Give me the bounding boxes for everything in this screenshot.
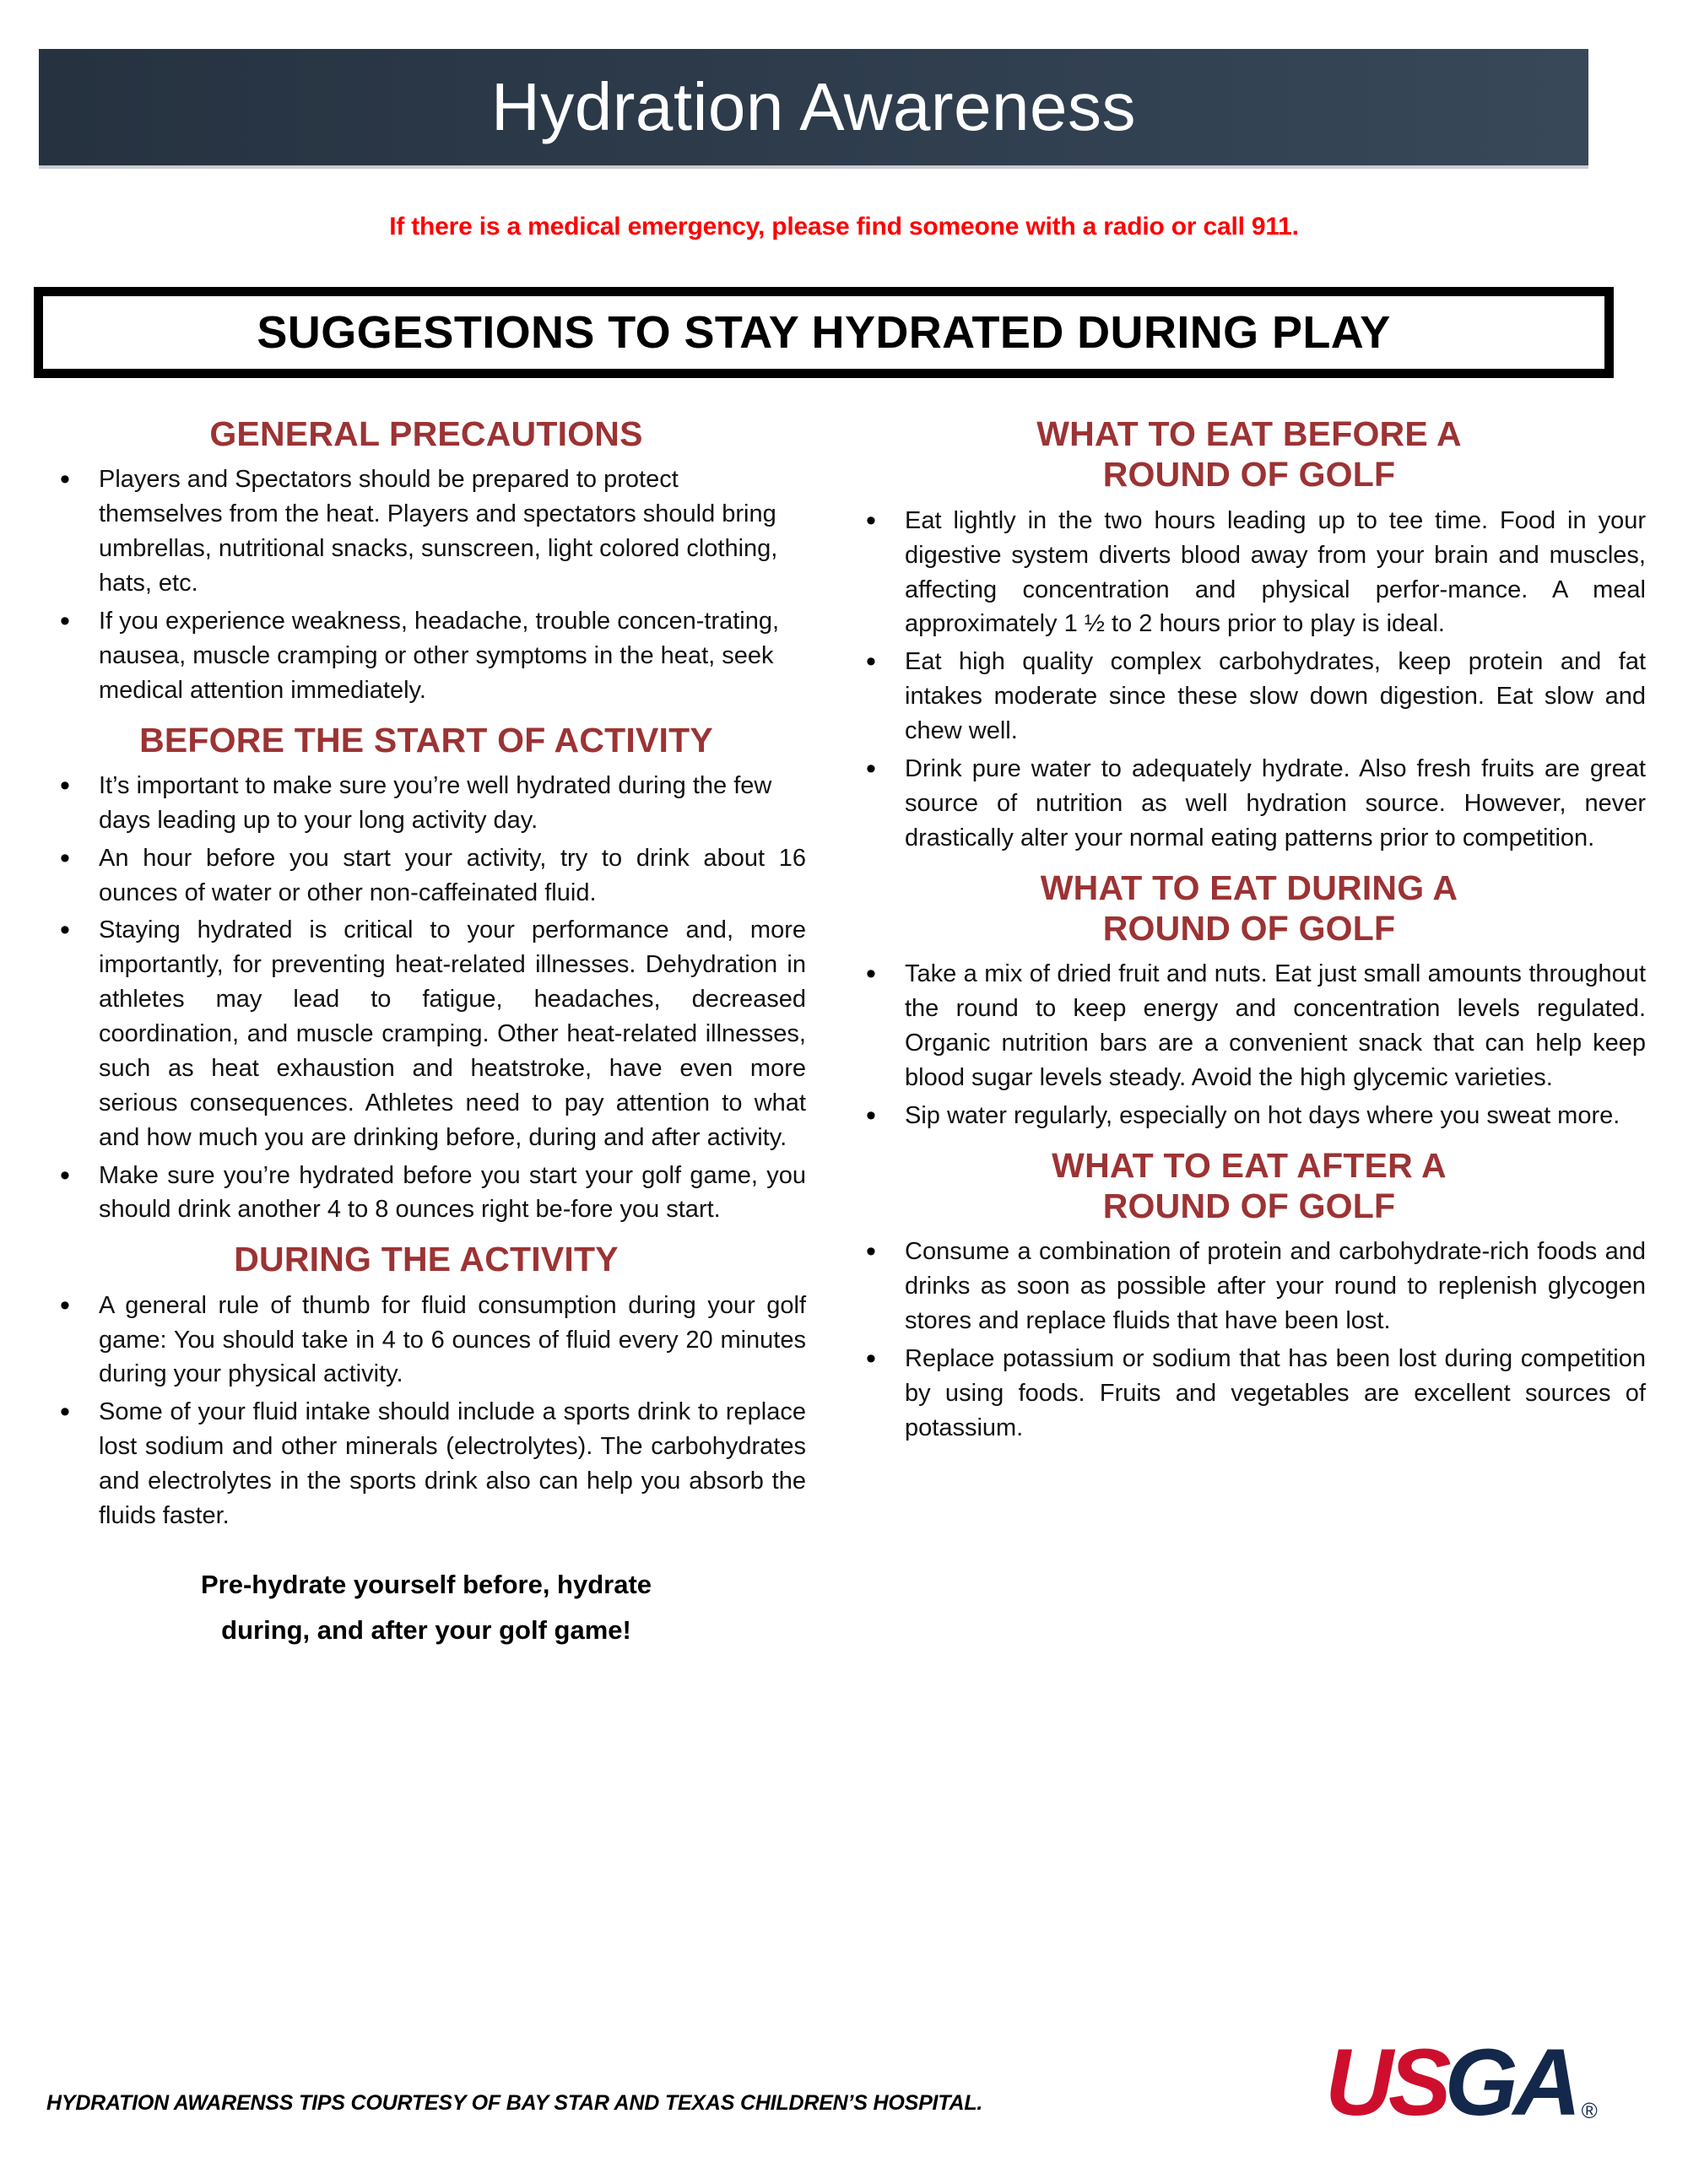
content-columns: GENERAL PRECAUTIONS Players and Spectato… [0,414,1688,1653]
right-column: WHAT TO EAT BEFORE A ROUND OF GOLF Eat l… [844,414,1688,1653]
section-heading-what-to-eat-before: WHAT TO EAT BEFORE A ROUND OF GOLF [852,414,1646,495]
header-banner: Hydration Awareness [39,49,1588,169]
list-item: Some of your fluid intake should include… [46,1395,806,1533]
section-heading-general-precautions: GENERAL PRECAUTIONS [46,414,806,454]
bullet-list-what-to-eat-after: Consume a combination of protein and car… [852,1235,1646,1445]
main-heading-box: SUGGESTIONS TO STAY HYDRATED DURING PLAY [34,287,1614,378]
list-item: Sip water regularly, especially on hot d… [852,1099,1646,1133]
closing-statement-line-2: during, and after your golf game! [46,1608,806,1653]
section-heading-before-start-of-activity: BEFORE THE START OF ACTIVITY [46,720,806,760]
footer-credit-line: HYDRATION AWARENSS TIPS COURTESY OF BAY … [46,2091,982,2116]
section-heading-what-to-eat-during: WHAT TO EAT DURING A ROUND OF GOLF [852,868,1646,949]
page-title: Hydration Awareness [491,73,1136,141]
registered-trademark-icon: ® [1582,2100,1598,2122]
section-heading-line-1: WHAT TO EAT DURING A [852,868,1646,908]
list-item: If you experience weakness, headache, tr… [46,604,806,708]
usga-logo-us-text: US [1325,2035,1447,2130]
list-item: Drink pure water to adequately hydrate. … [852,752,1646,856]
bullet-list-before-start-of-activity: It’s important to make sure you’re well … [46,769,806,1227]
list-item: Eat lightly in the two hours leading up … [852,504,1646,642]
bullet-list-what-to-eat-during: Take a mix of dried fruit and nuts. Eat … [852,957,1646,1133]
section-heading-during-the-activity: DURING THE ACTIVITY [46,1239,806,1279]
main-heading-text: SUGGESTIONS TO STAY HYDRATED DURING PLAY [257,306,1390,359]
emergency-notice: If there is a medical emergency, please … [0,213,1688,241]
list-item: It’s important to make sure you’re well … [46,769,806,838]
list-item: Eat high quality complex carbohydrates, … [852,645,1646,749]
list-item: Consume a combination of protein and car… [852,1235,1646,1338]
closing-statement: Pre-hydrate yourself before, hydrate dur… [46,1562,806,1654]
list-item: Players and Spectators should be prepare… [46,462,806,601]
list-item: Take a mix of dried fruit and nuts. Eat … [852,957,1646,1095]
usga-logo: US GA ® [1325,2035,1598,2130]
list-item: Make sure you’re hydrated before you sta… [46,1159,806,1228]
list-item: Staying hydrated is critical to your per… [46,913,806,1154]
list-item: Replace potassium or sodium that has bee… [852,1342,1646,1446]
poster-page: Hydration Awareness If there is a medica… [0,0,1688,2184]
section-heading-line-1: WHAT TO EAT BEFORE A [852,414,1646,454]
list-item: An hour before you start your activity, … [46,841,806,911]
bullet-list-what-to-eat-before: Eat lightly in the two hours leading up … [852,504,1646,856]
left-column: GENERAL PRECAUTIONS Players and Spectato… [0,414,844,1653]
bullet-list-during-the-activity: A general rule of thumb for fluid consum… [46,1289,806,1533]
usga-logo-ga-text: GA [1445,2035,1577,2130]
closing-statement-line-1: Pre-hydrate yourself before, hydrate [46,1562,806,1608]
section-heading-line-2: ROUND OF GOLF [852,908,1646,949]
bullet-list-general-precautions: Players and Spectators should be prepare… [46,462,806,707]
section-heading-line-2: ROUND OF GOLF [852,454,1646,495]
section-heading-line-2: ROUND OF GOLF [852,1186,1646,1226]
section-heading-what-to-eat-after: WHAT TO EAT AFTER A ROUND OF GOLF [852,1145,1646,1227]
list-item: A general rule of thumb for fluid consum… [46,1289,806,1392]
section-heading-line-1: WHAT TO EAT AFTER A [852,1145,1646,1186]
